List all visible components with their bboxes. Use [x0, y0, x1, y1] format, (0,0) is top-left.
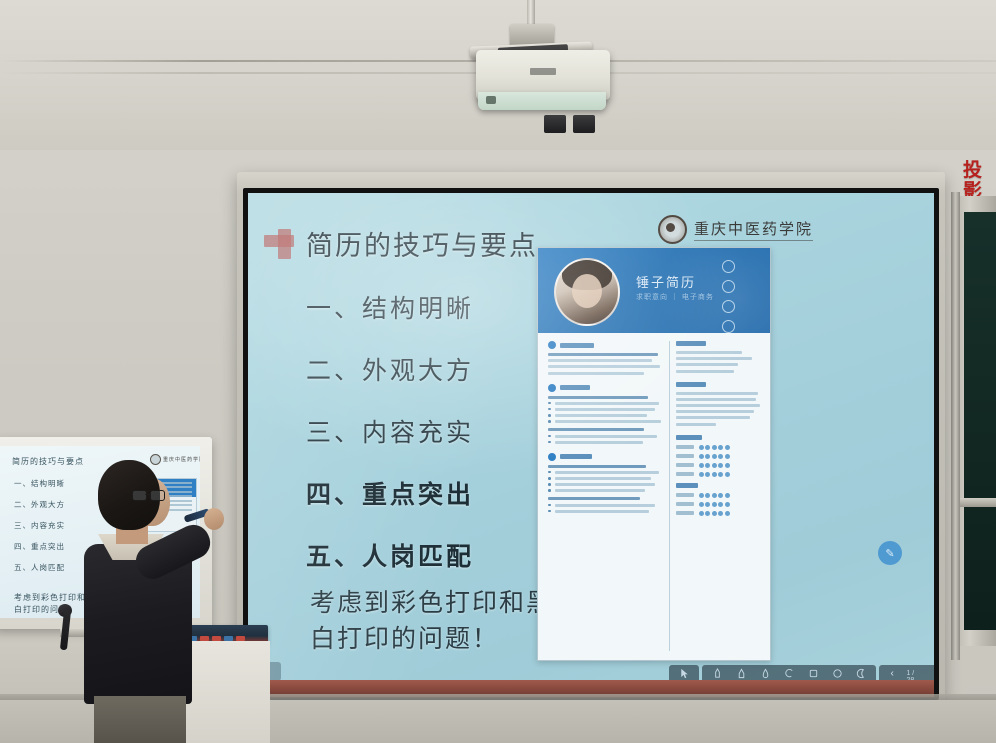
cursor-icon[interactable]: 选择 — [672, 666, 696, 680]
projector-badge — [530, 68, 556, 75]
spotlight-icon[interactable]: 聚光灯 — [849, 666, 873, 680]
list-item: 一、结构明晰 — [14, 478, 65, 489]
resume-contact-icons — [722, 260, 735, 333]
chalkboard-post — [951, 192, 960, 660]
whiteboard-tray-text — [250, 684, 500, 693]
classroom-scene: 投影 简历的技巧与要点 重庆中医药学院 一、结构明晰 二、外观大方 三、内容充实… — [0, 0, 996, 743]
resume-section — [548, 384, 666, 444]
campus-icon — [548, 453, 556, 461]
resume-header: 锤子简历 求职意向 ｜ 电子商务 — [538, 248, 770, 333]
school-logo: 重庆中医药学院 — [658, 215, 813, 244]
resume-section — [676, 341, 762, 373]
projector-lens-strip — [478, 92, 606, 110]
eraser-icon[interactable]: 橡皮 — [753, 666, 777, 680]
next-page-button[interactable]: › 下一页 — [925, 666, 934, 680]
presenter-legs — [94, 696, 186, 743]
resume-avatar — [554, 258, 620, 326]
list-item: 五、人岗匹配 — [14, 562, 65, 573]
school-seal-icon — [658, 215, 687, 244]
presenter-hand — [204, 508, 224, 530]
mail-icon — [722, 280, 735, 293]
list-item: 五、人岗匹配 — [306, 537, 474, 573]
projection-screen[interactable]: 简历的技巧与要点 重庆中医药学院 一、结构明晰 二、外观大方 三、内容充实 四、… — [248, 193, 934, 680]
list-item: 二、外观大方 — [306, 351, 474, 387]
list-item: 四、重点突出 — [306, 475, 474, 511]
chalkboard-divider — [958, 498, 996, 507]
slide-title: 简历的技巧与要点 — [306, 224, 538, 263]
resume-column-divider — [669, 341, 670, 651]
toolbar-group-cursor[interactable]: 选择 — [669, 665, 699, 680]
shape-icon[interactable]: 形状 — [801, 666, 825, 680]
annotation-toolbar[interactable]: 选择 画笔 荧光笔 橡皮 撤销 — [669, 664, 934, 680]
work-icon — [548, 384, 556, 392]
location-icon — [722, 300, 735, 313]
resume-section — [548, 341, 666, 375]
resume-left-column — [548, 341, 666, 522]
education-icon — [548, 341, 556, 349]
presenter-person — [76, 460, 216, 743]
monitor-bullet-list: 一、结构明晰 二、外观大方 三、内容充实 四、重点突出 五、人岗匹配 — [14, 478, 65, 583]
list-item: 一、结构明晰 — [306, 289, 474, 325]
resume-body — [538, 333, 770, 660]
resume-section — [548, 453, 666, 513]
phone-icon — [722, 260, 735, 273]
list-item: 三、内容充实 — [306, 413, 474, 449]
chevron-left-icon: ‹ — [891, 668, 894, 679]
pen-icon[interactable]: 画笔 — [705, 666, 729, 680]
projector-foot — [573, 115, 595, 133]
school-name: 重庆中医药学院 — [694, 218, 813, 241]
resume-section — [676, 382, 762, 426]
resume-subtitle: 求职意向 ｜ 电子商务 — [636, 292, 714, 302]
slide-bullet-list: 一、结构明晰 二、外观大方 三、内容充实 四、重点突出 五、人岗匹配 — [306, 289, 474, 599]
resume-right-column — [676, 341, 762, 525]
slide-decoration-mark — [264, 229, 298, 259]
resume-section — [676, 435, 762, 516]
circle-icon[interactable]: 圆圈 — [825, 666, 849, 680]
resume-name: 锤子简历 — [636, 272, 696, 291]
watermark-icon: ✎ — [878, 541, 902, 565]
list-item: 四、重点突出 — [14, 541, 65, 552]
wall-sign-text: 投影 — [963, 160, 996, 200]
prev-page-button[interactable]: ‹ 上一页 — [882, 666, 902, 680]
highlighter-icon[interactable]: 荧光笔 — [729, 666, 753, 680]
slide-bottom-note-line1: 考虑到彩色打印和黑 — [310, 585, 553, 621]
projector-vent — [486, 96, 496, 104]
undo-icon[interactable]: 撤销 — [777, 666, 801, 680]
toolbar-group-pagination[interactable]: ‹ 上一页 1 / 28 › 下一页 — [879, 665, 934, 680]
chalkboard — [964, 212, 996, 630]
cake-icon — [722, 320, 735, 333]
projector-foot — [544, 115, 566, 133]
monitor-slide-title: 简历的技巧与要点 — [12, 456, 84, 467]
resume-preview-image: 锤子简历 求职意向 ｜ 电子商务 — [537, 247, 771, 661]
glasses-icon — [132, 490, 166, 501]
page-indicator: 1 / 28 — [902, 670, 925, 680]
slide-bottom-note-line2: 白打印的问题！ — [310, 621, 553, 657]
slide-bottom-note: 考虑到彩色打印和黑 白打印的问题！ — [310, 585, 553, 657]
toolbar-group-tools[interactable]: 画笔 荧光笔 橡皮 撤销 形状 — [702, 665, 876, 680]
list-item: 二、外观大方 — [14, 499, 65, 510]
list-item: 三、内容充实 — [14, 520, 65, 531]
